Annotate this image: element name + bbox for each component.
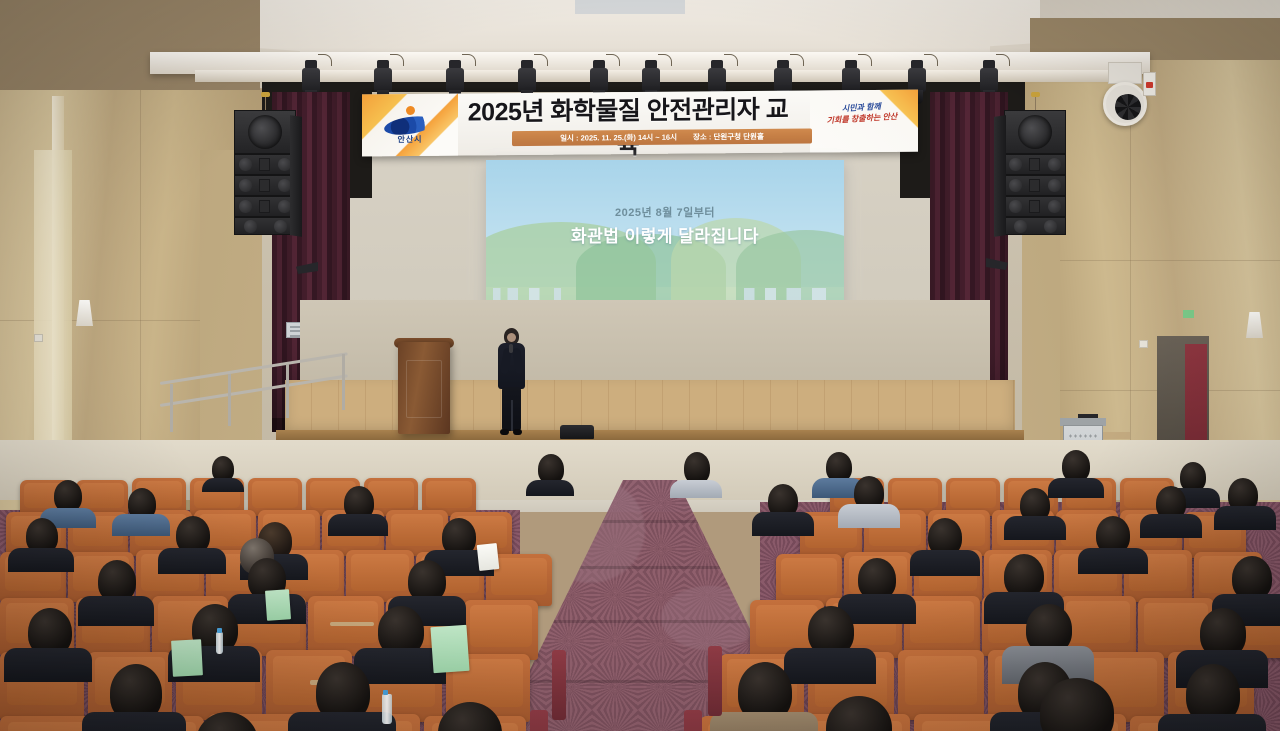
banner-slogan: 시민과 함께 기회를 창출하는 안산	[813, 99, 911, 141]
speaker-rigging-cable	[265, 94, 266, 110]
seat-armrest	[552, 650, 566, 720]
presenter	[494, 328, 528, 436]
light-body	[642, 68, 660, 92]
light-cable	[534, 54, 548, 66]
subwoofer-cabinet	[1004, 110, 1066, 154]
audience-seating-area	[0, 440, 1280, 731]
handrail-post	[286, 364, 289, 418]
audience-shoulders	[910, 550, 980, 576]
light-body	[374, 68, 392, 92]
array-module	[1004, 175, 1066, 196]
banner-place: 장소 : 단원구청 단원홀	[693, 131, 764, 143]
light-cable	[658, 54, 672, 66]
audience-shoulders	[1214, 506, 1276, 530]
handout-paper	[477, 543, 500, 571]
water-bottle	[216, 632, 223, 654]
seat-armrest	[530, 710, 548, 731]
light-body	[590, 68, 608, 92]
array-module	[234, 154, 296, 175]
light-cable	[390, 54, 404, 66]
slide-eyebrow-text: 2025년 8월 7일부터	[486, 204, 844, 220]
line-array-speaker-left	[234, 110, 296, 235]
seat-armrest	[708, 646, 722, 716]
emergency-exit-sign	[1183, 310, 1194, 318]
handrail-post	[342, 354, 345, 410]
speaker-side-panel	[994, 115, 1006, 237]
audience-shoulders	[112, 514, 170, 536]
presenter-shoe	[500, 429, 509, 435]
light-body	[774, 68, 792, 92]
light-cable	[606, 54, 620, 66]
audience-shoulders	[1048, 478, 1104, 498]
light-cable	[462, 54, 476, 66]
stage-monitor-speaker	[560, 425, 594, 439]
light-cable	[790, 54, 804, 66]
audience-shoulders	[78, 596, 154, 626]
stage-floor	[285, 380, 1015, 436]
audience-shoulders	[1158, 714, 1266, 731]
banner-date: 일시 : 2025. 11. 25.(화) 14시 ~ 16시	[560, 132, 677, 144]
line-array-speaker-right	[1004, 110, 1066, 235]
audience-shoulders	[82, 712, 186, 731]
audience-shoulders	[752, 512, 814, 536]
light-body	[908, 68, 926, 92]
seat	[898, 650, 984, 720]
microphone-icon	[509, 344, 513, 353]
speaker-rigging-cable	[1035, 94, 1036, 110]
light-cable	[996, 54, 1010, 66]
seat-armrest	[684, 710, 702, 731]
light-body	[446, 68, 464, 92]
speaker-cone	[248, 115, 282, 149]
array-module	[1004, 154, 1066, 175]
audience-shoulders	[288, 712, 396, 731]
audience-shoulders	[202, 478, 244, 492]
audience-shoulders	[526, 480, 574, 496]
audience-shoulders	[1004, 516, 1066, 540]
presenter-shoe	[513, 429, 522, 435]
speaker-cone	[1018, 115, 1052, 149]
audience-shoulders	[8, 548, 74, 572]
handout-paper	[265, 589, 291, 621]
light-body	[518, 68, 536, 92]
rack-side-shelf	[1100, 432, 1130, 439]
wooden-podium	[398, 342, 450, 434]
ansan-city-logo: 안산시	[380, 104, 438, 149]
banner-subtitle: 일시 : 2025. 11. 25.(화) 14시 ~ 16시 장소 : 단원구…	[512, 128, 812, 146]
auditorium-photo: 안산시 2025년 화학물질 안전관리자 교육 일시 : 2025. 11. 2…	[0, 0, 1280, 731]
light-body	[708, 68, 726, 92]
audience-shoulders	[4, 648, 92, 682]
audience-shoulders	[784, 648, 876, 684]
audience-shoulders	[1078, 548, 1148, 574]
seat	[308, 596, 384, 656]
presenter-leg-split	[511, 400, 513, 431]
circular-fan-icon	[1103, 82, 1147, 126]
audience-shoulders	[670, 480, 722, 498]
handout-paper	[171, 639, 203, 677]
handrail-post	[170, 384, 173, 432]
handrail-post	[228, 374, 231, 426]
audience-shoulders	[710, 712, 818, 731]
light-cable	[724, 54, 738, 66]
presenter-face	[507, 333, 516, 342]
wall-outlet-left	[34, 334, 43, 342]
seat-tray	[330, 622, 374, 626]
array-module	[234, 196, 296, 217]
light-body	[302, 68, 320, 92]
audience-shoulders	[328, 514, 388, 536]
array-module	[1004, 217, 1066, 235]
slide-headline-text: 화관법 이렇게 달라집니다	[486, 222, 844, 247]
array-module	[1004, 196, 1066, 217]
ceiling-vent-panel	[575, 0, 685, 14]
light-cable	[858, 54, 872, 66]
speaker-side-panel	[290, 115, 302, 237]
ceiling-vent-duct	[1108, 62, 1142, 84]
water-bottle	[382, 694, 392, 724]
seat	[346, 550, 414, 602]
audience-shoulders	[158, 548, 226, 574]
light-cable	[924, 54, 938, 66]
audience-shoulders	[1140, 514, 1202, 538]
handout-paper	[430, 625, 469, 673]
wall-outlet-right	[1139, 340, 1148, 348]
subwoofer-cabinet	[234, 110, 296, 154]
logo-dot-icon	[406, 106, 415, 115]
array-module	[234, 217, 296, 235]
logo-label: 안산시	[388, 134, 432, 145]
array-module	[234, 175, 296, 196]
light-body	[842, 68, 860, 92]
event-banner: 안산시 2025년 화학물질 안전관리자 교육 일시 : 2025. 11. 2…	[362, 90, 918, 157]
podium-front-panel	[406, 360, 442, 418]
seat	[464, 600, 538, 660]
audience-shoulders	[838, 504, 900, 528]
fire-alarm-icon	[1143, 72, 1156, 96]
light-body	[980, 68, 998, 92]
light-cable	[318, 54, 332, 66]
